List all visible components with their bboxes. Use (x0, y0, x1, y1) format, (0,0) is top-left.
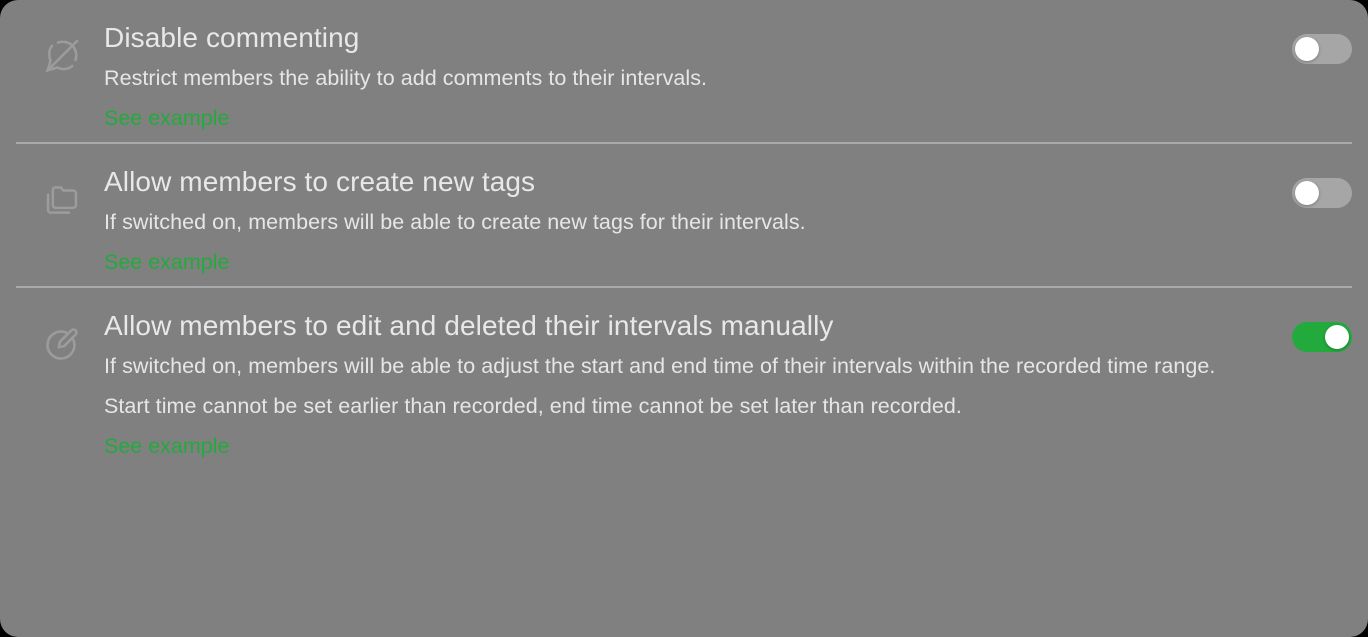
toggle-disable-commenting[interactable] (1292, 34, 1352, 64)
see-example-link[interactable]: See example (104, 426, 230, 466)
setting-title: Allow members to create new tags (104, 162, 1280, 202)
setting-row-edit-intervals: Allow members to edit and deleted their … (0, 288, 1368, 470)
toggle-create-tags[interactable] (1292, 178, 1352, 208)
settings-panel: Disable commenting Restrict members the … (0, 0, 1368, 637)
setting-row-body: Allow members to edit and deleted their … (84, 306, 1290, 466)
setting-row-disable-commenting: Disable commenting Restrict members the … (0, 0, 1368, 142)
see-example-link[interactable]: See example (104, 242, 230, 282)
toggle-container (1290, 18, 1352, 64)
setting-row-body: Allow members to create new tags If swit… (84, 162, 1290, 282)
setting-title: Disable commenting (104, 18, 1280, 58)
toggle-knob (1295, 37, 1319, 61)
setting-description: If switched on, members will be able to … (104, 202, 1224, 242)
see-example-link[interactable]: See example (104, 98, 230, 138)
folders-icon (40, 178, 84, 222)
edit-circle-icon (40, 322, 84, 366)
setting-title: Allow members to edit and deleted their … (104, 306, 1280, 346)
setting-description: If switched on, members will be able to … (104, 346, 1224, 426)
toggle-edit-intervals[interactable] (1292, 322, 1352, 352)
toggle-container (1290, 162, 1352, 208)
setting-description: Restrict members the ability to add comm… (104, 58, 1224, 98)
toggle-knob (1325, 325, 1349, 349)
message-circle-off-icon (40, 34, 84, 78)
setting-row-create-tags: Allow members to create new tags If swit… (0, 144, 1368, 286)
toggle-knob (1295, 181, 1319, 205)
setting-row-body: Disable commenting Restrict members the … (84, 18, 1290, 138)
toggle-container (1290, 306, 1352, 352)
